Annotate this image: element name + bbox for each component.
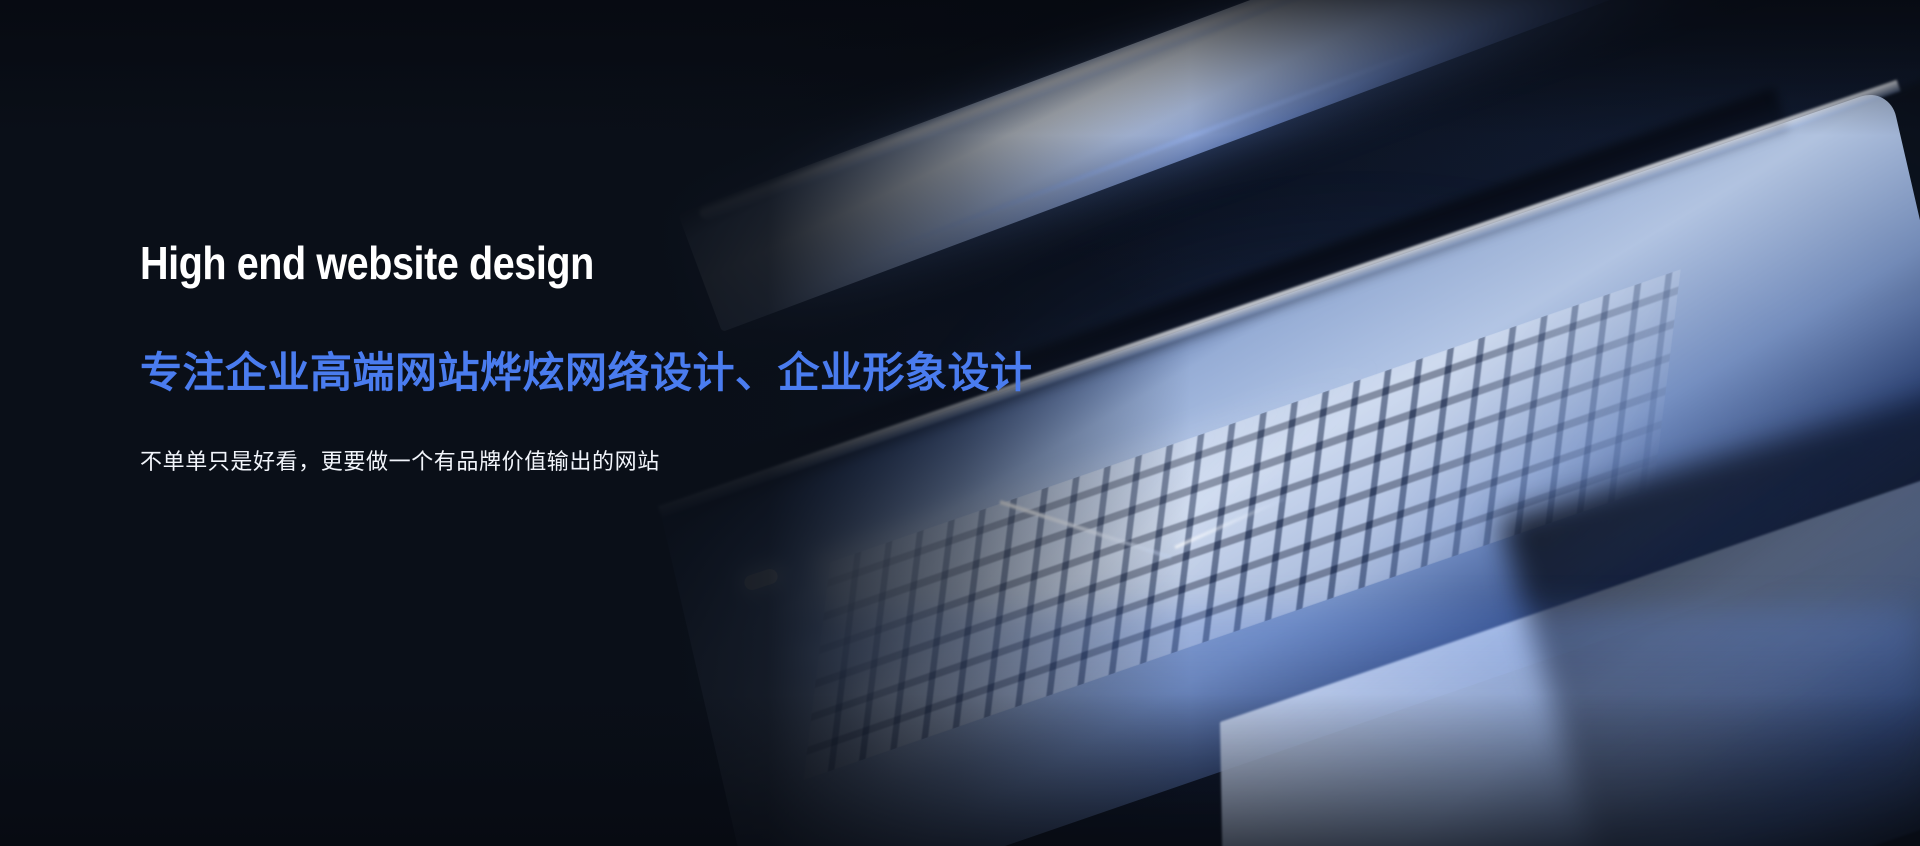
subheadline-chinese: 不单单只是好看，更要做一个有品牌价值输出的网站 [140, 445, 1240, 478]
headline-chinese: 专注企业高端网站烨炫网络设计、企业形象设计 [140, 348, 1240, 398]
hero-banner: High end website design 专注企业高端网站烨炫网络设计、企… [0, 0, 1920, 846]
headline-english: High end website design [140, 238, 1086, 290]
hero-copy: High end website design 专注企业高端网站烨炫网络设计、企… [140, 238, 1240, 478]
